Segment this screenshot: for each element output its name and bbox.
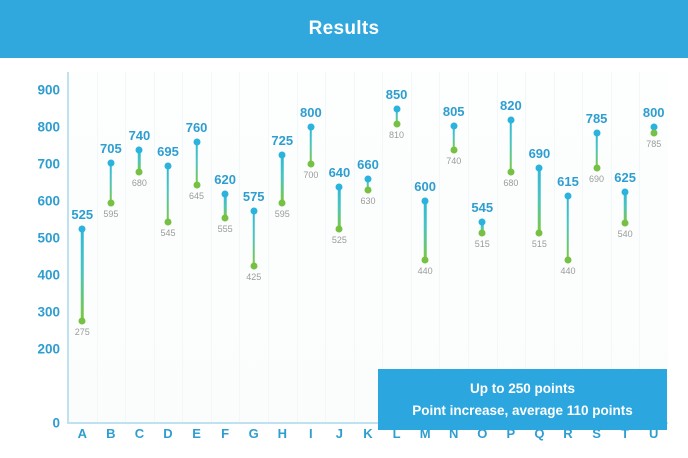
before-value-label: 595 xyxy=(103,209,118,219)
before-value-dot[interactable] xyxy=(279,200,286,207)
connector-line xyxy=(281,155,284,203)
after-value-label: 525 xyxy=(71,207,93,222)
before-value-label: 545 xyxy=(160,228,175,238)
after-value-dot[interactable] xyxy=(422,198,429,205)
connector-line xyxy=(510,120,513,172)
before-value-dot[interactable] xyxy=(422,257,429,264)
after-value-label: 850 xyxy=(386,87,408,102)
before-value-dot[interactable] xyxy=(222,214,229,221)
chart-container: 5252757055957406806955457606456205555754… xyxy=(0,58,688,458)
before-value-label: 690 xyxy=(589,174,604,184)
y-axis-tick: 0 xyxy=(14,416,60,431)
after-value-label: 740 xyxy=(129,128,151,143)
after-value-dot[interactable] xyxy=(364,176,371,183)
before-value-label: 785 xyxy=(646,139,661,149)
connector-line xyxy=(595,133,598,168)
y-axis: 9008007006005004003002000 xyxy=(8,58,60,458)
connector-line xyxy=(252,211,255,266)
before-value-label: 425 xyxy=(246,272,261,282)
before-value-dot[interactable] xyxy=(536,229,543,236)
connector-line xyxy=(110,163,113,204)
after-value-dot[interactable] xyxy=(622,189,629,196)
callout-line-1: Up to 250 points xyxy=(470,381,575,396)
after-value-dot[interactable] xyxy=(136,146,143,153)
after-value-dot[interactable] xyxy=(507,117,514,124)
y-axis-tick: 600 xyxy=(14,194,60,209)
data-column-G[interactable]: 575425 xyxy=(239,72,268,423)
before-value-dot[interactable] xyxy=(79,318,86,325)
after-value-dot[interactable] xyxy=(193,139,200,146)
after-value-dot[interactable] xyxy=(479,218,486,225)
y-axis-line xyxy=(67,72,69,423)
before-value-dot[interactable] xyxy=(622,220,629,227)
before-value-dot[interactable] xyxy=(250,262,257,269)
before-value-dot[interactable] xyxy=(593,165,600,172)
after-value-label: 620 xyxy=(214,172,236,187)
connector-line xyxy=(538,168,541,233)
after-value-label: 800 xyxy=(300,105,322,120)
before-value-dot[interactable] xyxy=(107,200,114,207)
before-value-label: 540 xyxy=(618,229,633,239)
before-value-label: 440 xyxy=(418,266,433,276)
before-value-dot[interactable] xyxy=(393,120,400,127)
y-axis-tick: 300 xyxy=(14,305,60,320)
y-axis-tick: 500 xyxy=(14,231,60,246)
page-header: Results xyxy=(0,0,688,58)
before-value-dot[interactable] xyxy=(136,168,143,175)
connector-line xyxy=(195,142,198,184)
after-value-label: 705 xyxy=(100,141,122,156)
before-value-dot[interactable] xyxy=(479,229,486,236)
before-value-dot[interactable] xyxy=(564,257,571,264)
data-column-C[interactable]: 740680 xyxy=(125,72,154,423)
after-value-label: 545 xyxy=(471,200,493,215)
x-axis-tick-E: E xyxy=(192,426,201,441)
after-value-dot[interactable] xyxy=(336,183,343,190)
before-value-label: 740 xyxy=(446,156,461,166)
connector-line xyxy=(310,127,313,164)
x-axis-tick-D: D xyxy=(163,426,172,441)
x-axis-tick-A: A xyxy=(78,426,87,441)
connector-line xyxy=(567,196,570,261)
y-axis-tick: 400 xyxy=(14,268,60,283)
before-value-dot[interactable] xyxy=(307,161,314,168)
x-axis-tick-F: F xyxy=(221,426,229,441)
y-axis-tick: 900 xyxy=(14,83,60,98)
y-axis-tick: 800 xyxy=(14,120,60,135)
x-axis-tick-I: I xyxy=(309,426,313,441)
after-value-dot[interactable] xyxy=(79,226,86,233)
y-axis-tick: 700 xyxy=(14,157,60,172)
x-axis-tick-C: C xyxy=(135,426,144,441)
after-value-label: 800 xyxy=(643,105,665,120)
after-value-label: 805 xyxy=(443,104,465,119)
after-value-dot[interactable] xyxy=(222,190,229,197)
after-value-label: 625 xyxy=(614,170,636,185)
x-axis-tick-G: G xyxy=(249,426,259,441)
before-value-dot[interactable] xyxy=(364,187,371,194)
before-value-label: 700 xyxy=(303,170,318,180)
before-value-label: 595 xyxy=(275,209,290,219)
data-column-E[interactable]: 760645 xyxy=(182,72,211,423)
before-value-dot[interactable] xyxy=(193,181,200,188)
after-value-label: 820 xyxy=(500,98,522,113)
after-value-dot[interactable] xyxy=(107,159,114,166)
after-value-label: 660 xyxy=(357,157,379,172)
data-column-F[interactable]: 620555 xyxy=(211,72,240,423)
data-column-I[interactable]: 800700 xyxy=(297,72,326,423)
after-value-dot[interactable] xyxy=(536,165,543,172)
data-column-J[interactable]: 640525 xyxy=(325,72,354,423)
before-value-label: 515 xyxy=(475,239,490,249)
connector-line xyxy=(424,201,427,260)
x-axis-tick-J: J xyxy=(336,426,343,441)
before-value-dot[interactable] xyxy=(336,226,343,233)
page-title: Results xyxy=(309,18,380,40)
before-value-label: 680 xyxy=(503,178,518,188)
y-axis-tick: 200 xyxy=(14,342,60,357)
after-value-label: 785 xyxy=(586,111,608,126)
data-column-A[interactable]: 525275 xyxy=(68,72,97,423)
connector-line xyxy=(338,187,341,229)
after-value-label: 600 xyxy=(414,179,436,194)
before-value-label: 440 xyxy=(560,266,575,276)
before-value-label: 645 xyxy=(189,191,204,201)
before-value-label: 515 xyxy=(532,239,547,249)
connector-line xyxy=(624,192,627,223)
before-value-label: 630 xyxy=(360,196,375,206)
after-value-dot[interactable] xyxy=(164,163,171,170)
data-column-D[interactable]: 695545 xyxy=(154,72,183,423)
data-column-H[interactable]: 725595 xyxy=(268,72,297,423)
before-value-label: 555 xyxy=(218,224,233,234)
x-axis-tick-B: B xyxy=(106,426,115,441)
after-value-dot[interactable] xyxy=(279,152,286,159)
before-value-label: 680 xyxy=(132,178,147,188)
callout-box: Up to 250 points Point increase, average… xyxy=(378,369,667,430)
after-value-dot[interactable] xyxy=(564,192,571,199)
after-value-label: 575 xyxy=(243,189,265,204)
after-value-label: 725 xyxy=(271,133,293,148)
after-value-dot[interactable] xyxy=(593,129,600,136)
after-value-label: 615 xyxy=(557,174,579,189)
after-value-label: 690 xyxy=(529,146,551,161)
connector-line xyxy=(167,166,170,221)
before-value-label: 275 xyxy=(75,327,90,337)
x-axis-tick-K: K xyxy=(363,426,372,441)
before-value-dot[interactable] xyxy=(507,168,514,175)
after-value-dot[interactable] xyxy=(393,105,400,112)
after-value-dot[interactable] xyxy=(450,122,457,129)
callout-line-2: Point increase, average 110 points xyxy=(412,403,633,418)
data-column-B[interactable]: 705595 xyxy=(97,72,126,423)
chart-page: Results 52527570559574068069554576064562… xyxy=(0,0,688,458)
before-value-dot[interactable] xyxy=(650,129,657,136)
after-value-dot[interactable] xyxy=(250,207,257,214)
after-value-label: 695 xyxy=(157,144,179,159)
connector-line xyxy=(81,229,84,321)
after-value-label: 640 xyxy=(329,165,351,180)
x-axis-tick-H: H xyxy=(278,426,287,441)
before-value-dot[interactable] xyxy=(450,146,457,153)
after-value-dot[interactable] xyxy=(307,124,314,131)
before-value-label: 525 xyxy=(332,235,347,245)
before-value-label: 810 xyxy=(389,130,404,140)
after-value-label: 760 xyxy=(186,120,208,135)
before-value-dot[interactable] xyxy=(164,218,171,225)
